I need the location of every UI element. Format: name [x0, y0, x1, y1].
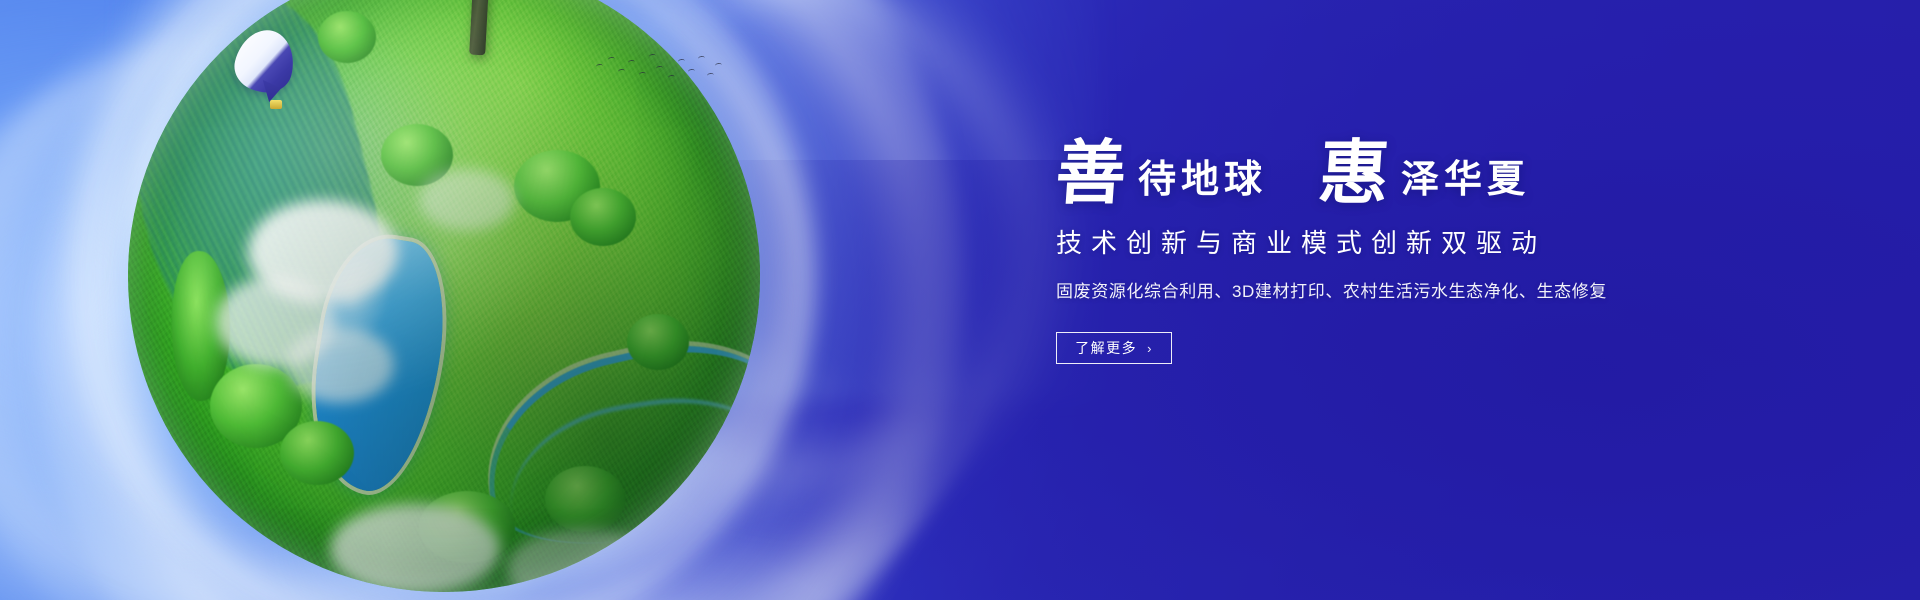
bird-icon: [649, 54, 657, 60]
balloon-basket: [270, 100, 282, 109]
headline-char-2: 惠: [1317, 139, 1392, 206]
bird-icon: [688, 69, 696, 75]
learn-more-label: 了解更多: [1075, 338, 1137, 358]
bird-icon: [707, 73, 715, 79]
chevron-right-icon: ›: [1147, 342, 1153, 355]
banner-subtitle: 技术创新与商业模式创新双驱动: [1056, 228, 1776, 259]
flock-of-birds: [594, 48, 724, 92]
bird-icon: [656, 66, 664, 72]
headline-rest-2: 泽华夏: [1401, 160, 1530, 198]
headline: 善 待地球 惠 泽华夏: [1056, 120, 1776, 206]
bird-icon: [668, 75, 676, 81]
bird-icon: [639, 72, 647, 78]
bird-icon: [628, 60, 636, 66]
banner-content: 善 待地球 惠 泽华夏 技术创新与商业模式创新双驱动 固废资源化综合利用、3D建…: [1056, 120, 1776, 364]
learn-more-button[interactable]: 了解更多 ›: [1056, 332, 1172, 364]
hot-air-balloon: [236, 30, 298, 118]
bird-icon: [715, 63, 723, 69]
headline-rest-1: 待地球: [1138, 160, 1267, 198]
bird-icon: [678, 59, 686, 65]
bird-icon: [618, 69, 626, 75]
headline-char-1: 善: [1054, 139, 1129, 206]
bird-icon: [608, 57, 616, 63]
bird-icon: [698, 56, 706, 62]
hero-banner: 善 待地球 惠 泽华夏 技术创新与商业模式创新双驱动 固废资源化综合利用、3D建…: [0, 0, 1920, 600]
bird-icon: [596, 64, 604, 70]
banner-description: 固废资源化综合利用、3D建材打印、农村生活污水生态净化、生态修复: [1056, 281, 1776, 304]
